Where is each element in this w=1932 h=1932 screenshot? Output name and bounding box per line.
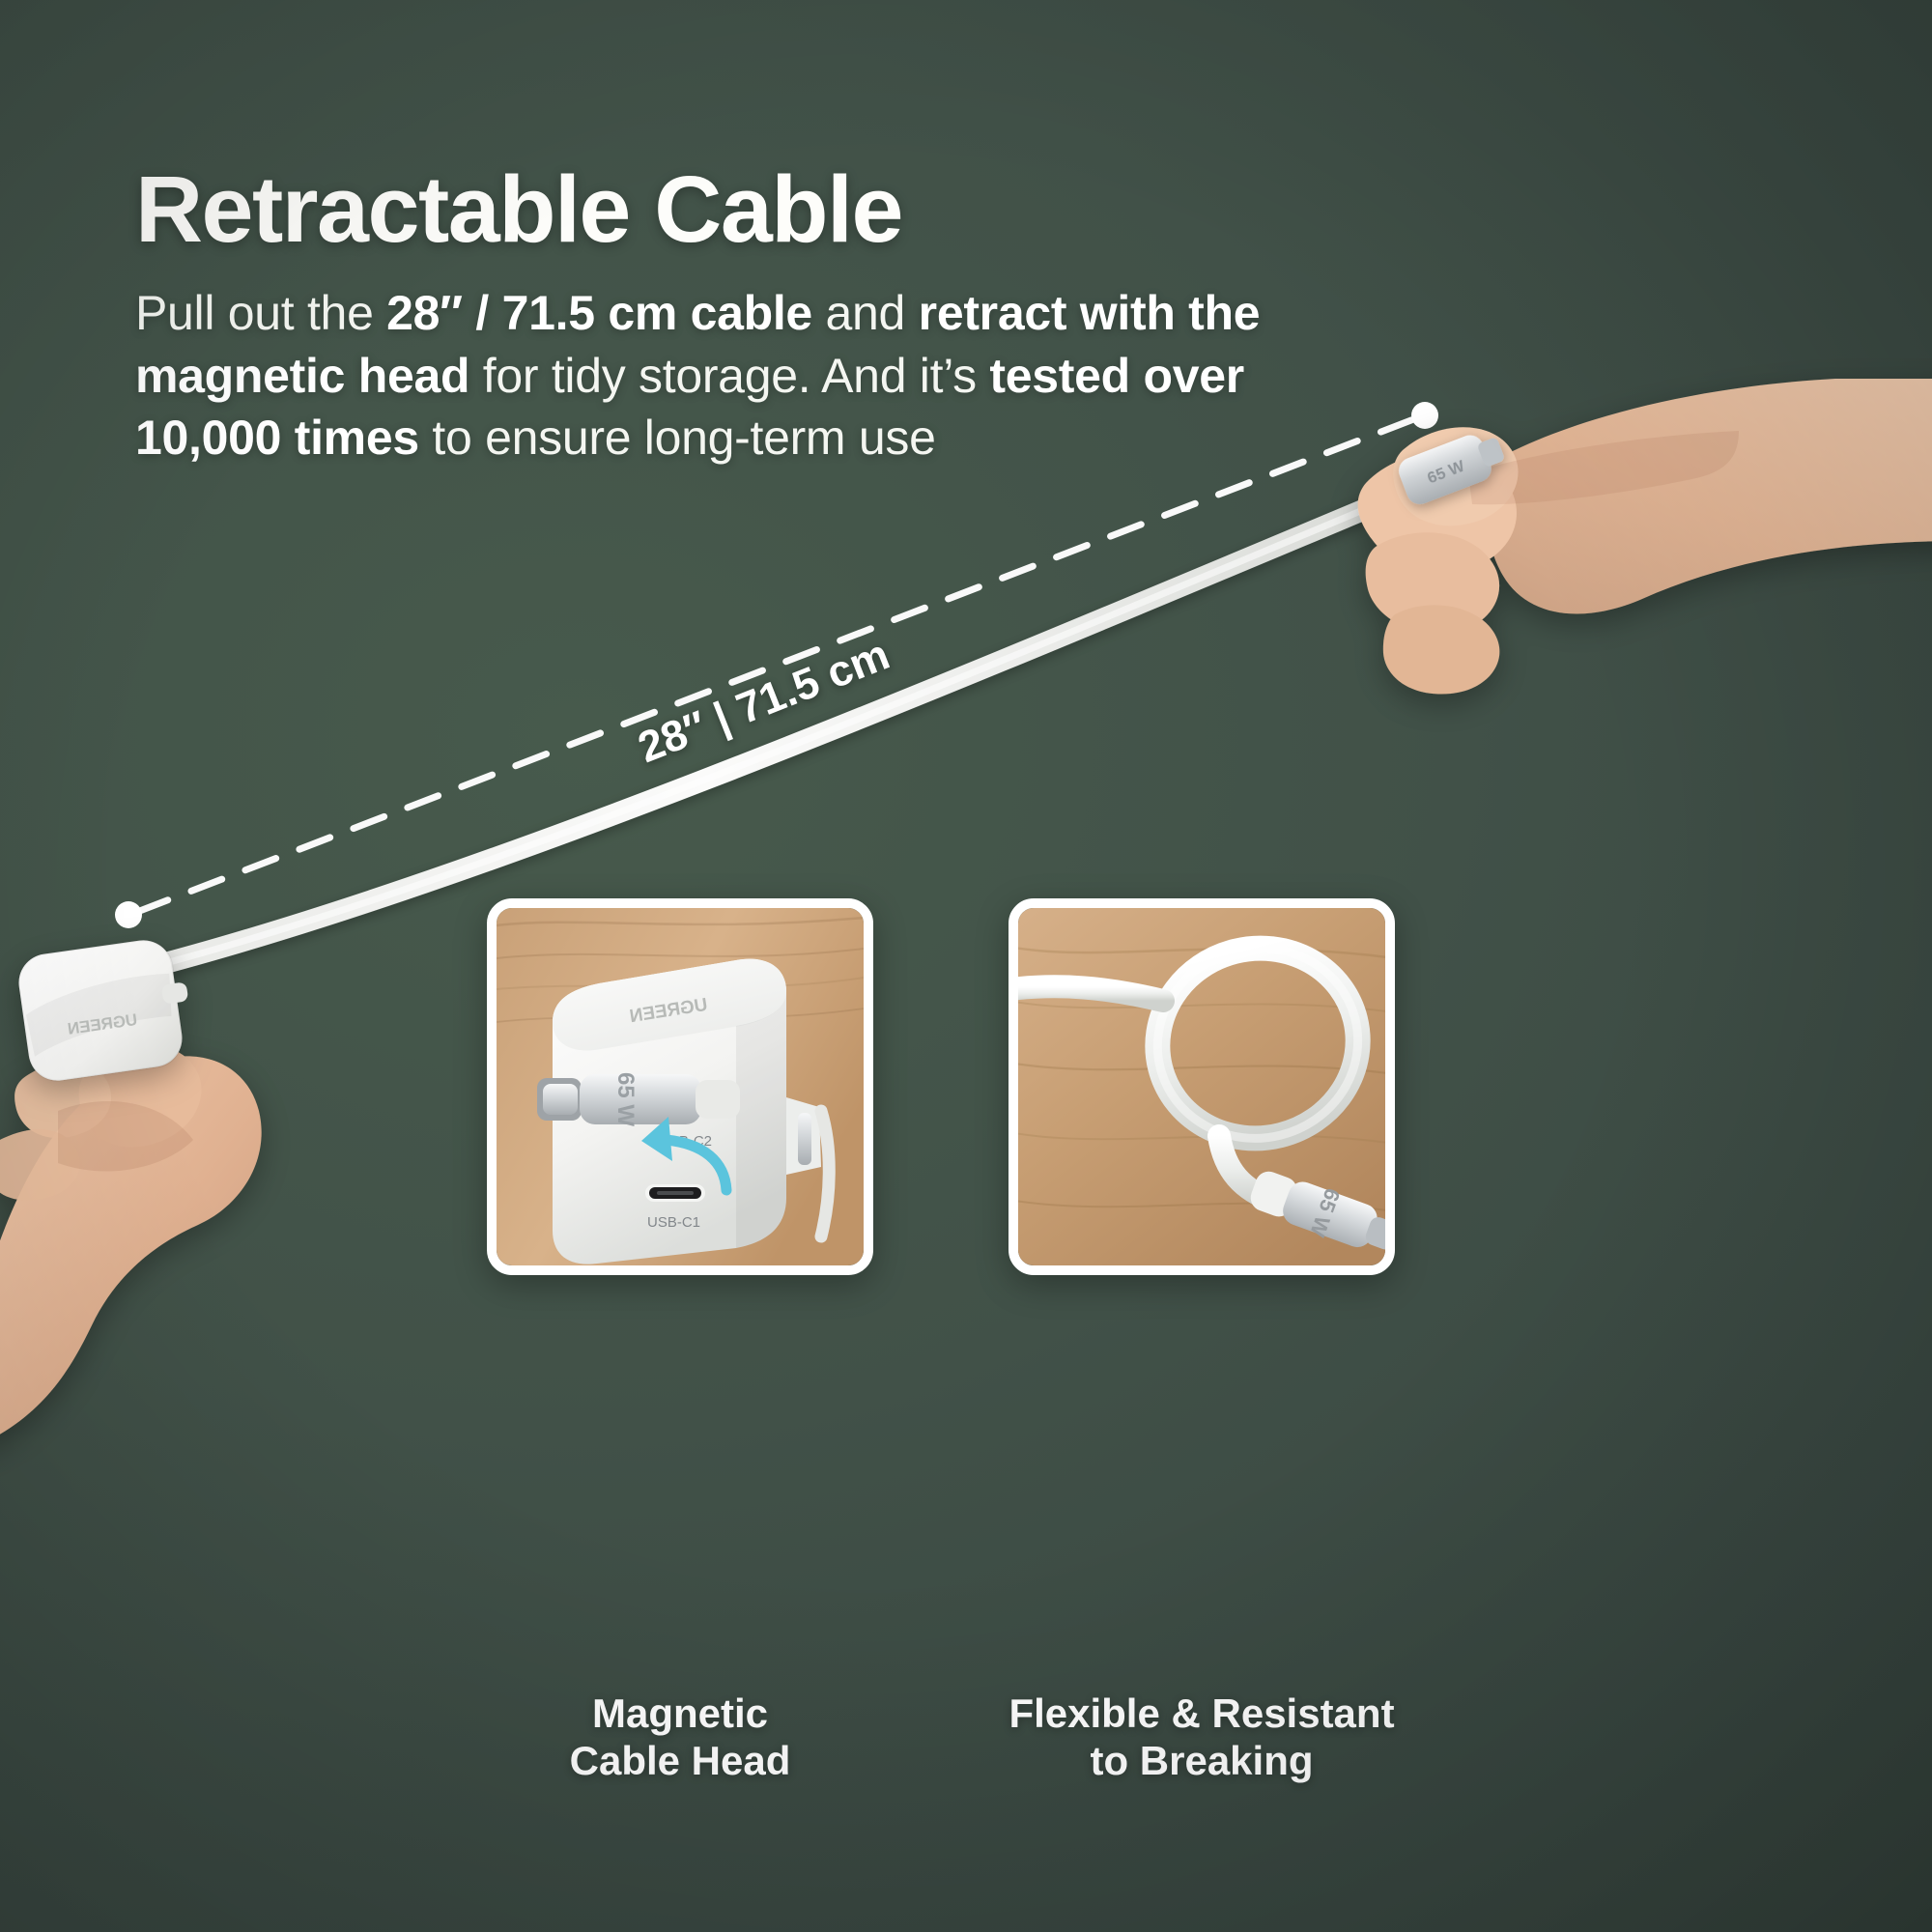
infographic-canvas: UGREEN 65 W Retractable Cable Pull out t…: [0, 0, 1932, 1932]
body-emphasis-length: 28″ / 71.5 cm cable: [386, 286, 812, 340]
dimension-dashed-line: [115, 402, 1438, 928]
photo-card-magnetic-cable-head: UGREEN 65 W USB-C2: [487, 898, 873, 1275]
caption-line-2: to Breaking: [951, 1738, 1453, 1785]
photo-card-flexible-resistant: 65 W: [1009, 898, 1395, 1275]
magnetic-cable-head-connector: 65 W: [537, 1072, 740, 1126]
port-label-usb-c1: USB-C1: [647, 1214, 700, 1231]
body-text-storage: for tidy storage. And it’s: [469, 349, 989, 403]
caption-flexible-resistant: Flexible & Resistant to Breaking: [951, 1690, 1453, 1784]
body-text-ensure: to ensure long-term use: [419, 411, 936, 465]
hand-holding-connector: [1358, 379, 1932, 695]
page-title: Retractable Cable: [135, 162, 902, 256]
flexible-cable-photo: 65 W: [1018, 908, 1385, 1265]
caption-line-1: Flexible & Resistant: [951, 1690, 1453, 1738]
caption-line-1: Magnetic: [429, 1690, 931, 1738]
photo-wattage-65w: 65 W: [612, 1072, 639, 1126]
flat-cable: [155, 502, 1381, 966]
body-copy: Pull out the 28″ / 71.5 cm cable and ret…: [135, 282, 1391, 469]
body-text-and: and: [812, 286, 919, 340]
caption-magnetic-cable-head: Magnetic Cable Head: [429, 1690, 931, 1784]
charger-brick: UGREEN: [15, 937, 189, 1085]
hand-holding-charger: [0, 1046, 262, 1449]
usb-c1-port: [645, 1184, 705, 1202]
magnetic-head-photo: UGREEN 65 W USB-C2: [497, 908, 864, 1265]
body-text-plain: Pull out the: [135, 286, 386, 340]
caption-line-2: Cable Head: [429, 1738, 931, 1785]
